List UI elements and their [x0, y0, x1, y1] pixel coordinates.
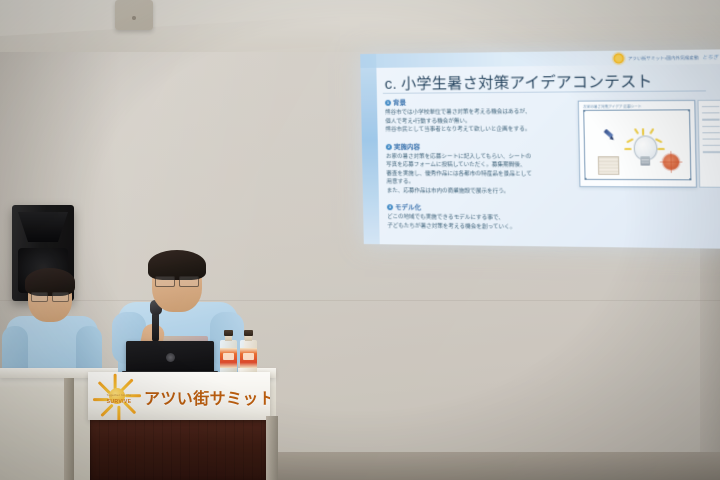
section-heading-text: モデル化 [395, 204, 421, 211]
wall-seam [0, 300, 720, 301]
slide-section: 3モデル化 どこの地域でも実施できるモデルにする事で、 子どもたちが暑さ対策を考… [387, 202, 574, 232]
podium: Together for the SURVIVE アツい街サミット [88, 372, 270, 480]
slide-figure-caption: お家の暑さ対策アイデア 応募シート [583, 103, 690, 109]
podium-sign: Together for the SURVIVE アツい街サミット [88, 372, 270, 420]
slide-section-line: お家の暑さ対策を応募シートに記入してもらい、シートの [386, 153, 573, 162]
slide-logo-script: とちぎ [702, 54, 719, 62]
slide-section: 1背景 熊谷市では小学校単位で暑さ対策を考える機会はあるが、 個人で考え・行動す… [385, 97, 572, 135]
slide-left-band [360, 54, 380, 244]
section-number-badge: 3 [387, 204, 393, 210]
sun-icon [613, 53, 625, 65]
section-heading-text: 実施内容 [394, 144, 420, 151]
slide-section-heading: 3モデル化 [387, 202, 574, 213]
glasses-icon [31, 292, 69, 300]
section-number-badge: 1 [385, 100, 391, 106]
ceiling-vent-icon [115, 0, 153, 30]
pen-icon [604, 131, 616, 142]
table-leg [64, 378, 74, 480]
drink-bottle [240, 330, 257, 374]
slide-side-column [697, 100, 720, 188]
podium-body [90, 418, 266, 480]
slide-section-line: 熊谷市民として当事者となり考えて欲しいと企画をする。 [385, 125, 572, 134]
slide-header-logo: アツい街サミット・国内外気候変動 とちぎ [613, 50, 719, 65]
slide-section-heading: 1背景 [385, 97, 572, 107]
podium-sign-text: アツい街サミット [144, 385, 270, 409]
slide-figure: お家の暑さ対策アイデア 応募シート [578, 100, 697, 188]
podium-logo-word: SURVIVE [99, 399, 139, 405]
lightbulb-icon [631, 135, 657, 166]
slide-section: 2実施内容 お家の暑さ対策を応募シートに記入してもらい、シートの 写真を応募フォ… [386, 141, 574, 196]
red-sun-icon [663, 154, 679, 170]
section-heading-text: 背景 [393, 100, 406, 107]
slide-section-line: 子どもたちが暑さ対策を考える機会を創っていく。 [387, 222, 574, 233]
laptop-lid [126, 341, 214, 373]
glasses-icon [155, 276, 199, 285]
paper-icon [598, 156, 620, 175]
slide-body: 1背景 熊谷市では小学校単位で暑さ対策を考える機会はあるが、 個人で考え・行動す… [385, 97, 574, 240]
section-number-badge: 2 [386, 144, 392, 150]
slide-section-line: また、応募作品は市内の商業施設で展示を行う。 [387, 187, 574, 197]
podium-side [266, 416, 278, 480]
speaker-horn [18, 212, 68, 242]
slide-section-heading: 2実施内容 [386, 141, 573, 150]
presentation-room-photo: アツい街サミット・国内外気候変動 とちぎ c. 小学生暑さ対策アイデアコンテスト… [0, 0, 720, 480]
podium-logo-subtext: Together for the [99, 393, 139, 397]
projected-slide: アツい街サミット・国内外気候変動 とちぎ c. 小学生暑さ対策アイデアコンテスト… [360, 49, 720, 248]
slide-figure-frame [583, 109, 691, 180]
slide-logo-text: アツい街サミット・国内外気候変動 [628, 54, 699, 61]
microphone-body [152, 312, 159, 342]
drink-bottle [220, 330, 237, 374]
